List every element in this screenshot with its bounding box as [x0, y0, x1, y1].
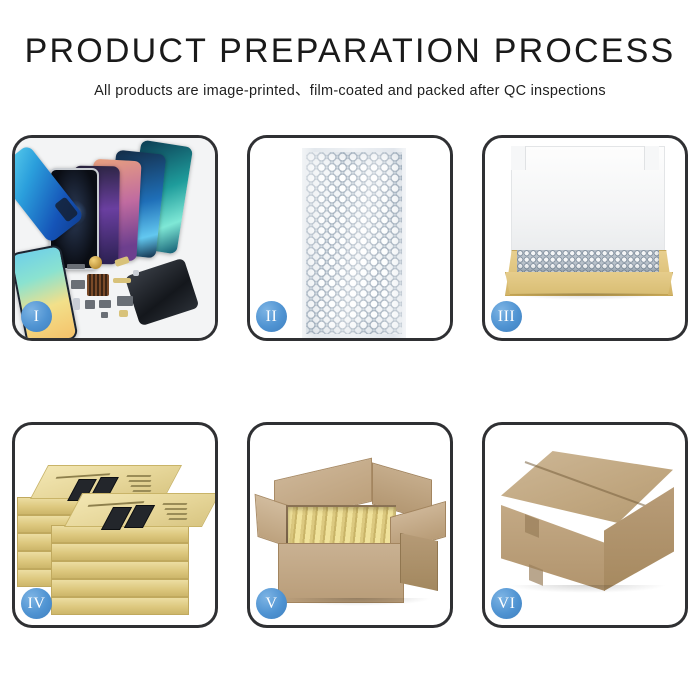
step-panel-carton-sealed: VI	[482, 422, 688, 628]
step-image-boxes-stacked: IV	[15, 425, 215, 625]
step-panel-boxes-stacked: IV	[12, 422, 218, 628]
step-badge-1: I	[21, 301, 52, 332]
box-lid-icon	[511, 146, 665, 259]
step-image-carton-sealed: VI	[485, 425, 685, 625]
page-subtitle: All products are image-printed、film-coat…	[0, 68, 700, 99]
step-image-product-inspection: I	[15, 138, 215, 338]
step-badge-5: V	[256, 588, 287, 619]
carton-shadow	[282, 598, 432, 606]
step-panel-product-inspection: I	[12, 135, 218, 341]
page-title: PRODUCT PREPARATION PROCESS	[0, 0, 700, 68]
step-badge-3: III	[491, 301, 522, 332]
carton-left-face	[501, 505, 605, 591]
kraft-box-front-icon	[505, 272, 673, 295]
step-image-bubble-wrap: II	[250, 138, 450, 338]
spare-parts-cluster	[67, 254, 171, 332]
header: PRODUCT PREPARATION PROCESS All products…	[0, 0, 700, 99]
bubble-wrap-gloss	[306, 152, 402, 334]
packed-yellow-boxes-icon	[288, 507, 396, 547]
step-panel-inner-box-packing: III	[482, 135, 688, 341]
step-badge-6: VI	[491, 588, 522, 619]
box-lid-flap-left	[511, 146, 526, 170]
step-image-carton-filling: V	[250, 425, 450, 625]
bubble-wrap-filling-icon	[517, 250, 659, 272]
step-badge-4: IV	[21, 588, 52, 619]
carton-shadow	[507, 585, 667, 593]
step-panel-carton-filling: V	[247, 422, 453, 628]
step-badge-2: II	[256, 301, 287, 332]
box-shadow	[507, 293, 667, 300]
steps-grid: I II III	[12, 135, 688, 635]
box-lid-flap-right	[644, 146, 659, 170]
step-image-inner-box-packing: III	[485, 138, 685, 338]
product-preparation-infographic: PRODUCT PREPARATION PROCESS All products…	[0, 0, 700, 700]
carton-side-wall	[400, 533, 438, 591]
step-panel-bubble-wrap: II	[247, 135, 453, 341]
carton-front-wall	[278, 543, 404, 603]
